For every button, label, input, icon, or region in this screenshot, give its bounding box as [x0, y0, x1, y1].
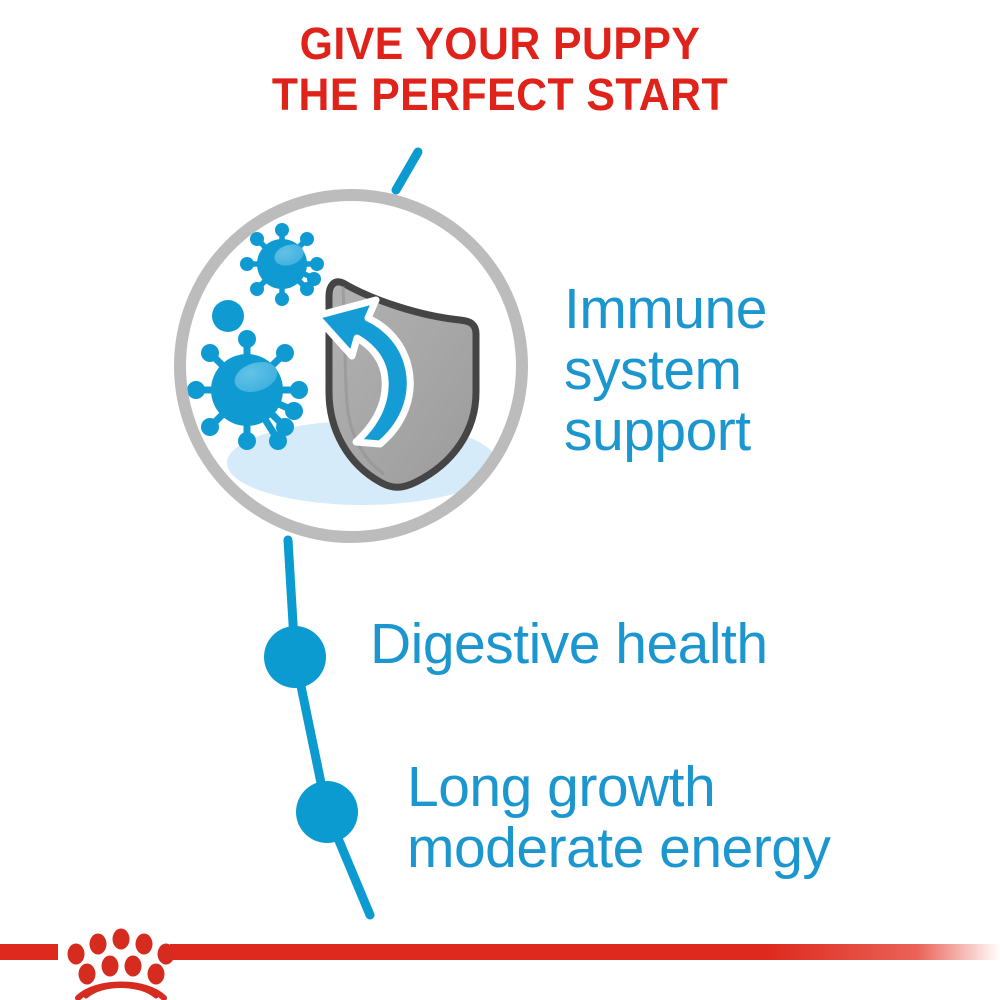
brand-bar-right: [170, 944, 1000, 960]
connector-line: [264, 152, 418, 915]
virus-small-highlight: [272, 241, 307, 269]
brand-bar-left: [0, 944, 58, 960]
shield-icon: [329, 282, 476, 487]
shield-body: [329, 282, 476, 487]
virus-large-body: [211, 354, 283, 426]
curved-arrow-icon: [316, 300, 410, 444]
crown-dots-bottom: [79, 956, 165, 985]
virus-small-body: [257, 239, 307, 289]
benefit-label-digestive: Digestive health: [370, 614, 768, 675]
virus-large-icon: [187, 330, 308, 450]
headline-line-1: GIVE YOUR PUPPY: [25, 18, 975, 69]
illustration-disc: [179, 194, 523, 538]
crown-arc-inner: [86, 986, 156, 997]
virus-dot-icon: [212, 300, 244, 332]
benefit-label-immune: Immune system support: [564, 279, 767, 462]
benefit-label-growth: Long growth moderate energy: [407, 757, 830, 879]
brand-footer: [0, 918, 1000, 1000]
arrow-body: [316, 300, 410, 444]
page-title: GIVE YOUR PUPPY THE PERFECT START: [25, 18, 975, 120]
illustration-ring: [180, 195, 522, 537]
promo-panel: GIVE YOUR PUPPY THE PERFECT START: [0, 0, 1000, 1000]
ground-shadow-ellipse: [227, 421, 497, 505]
virus-small-icon: [240, 223, 324, 306]
immune-shield-icon: [179, 194, 523, 538]
connector-segment-1: [288, 540, 295, 657]
shield-fold: [343, 286, 384, 474]
connector-segment-2: [295, 657, 327, 812]
virus-large-highlight: [231, 357, 281, 397]
connector-dot-growth: [296, 781, 358, 843]
crown-dots-top: [68, 929, 175, 965]
connector-segment-3: [327, 812, 370, 915]
connector-stub-top: [396, 152, 418, 190]
royal-canin-crown-logo: [0, 918, 1000, 1000]
connector-dot-digestive: [264, 626, 326, 688]
headline-line-2: THE PERFECT START: [25, 69, 975, 120]
